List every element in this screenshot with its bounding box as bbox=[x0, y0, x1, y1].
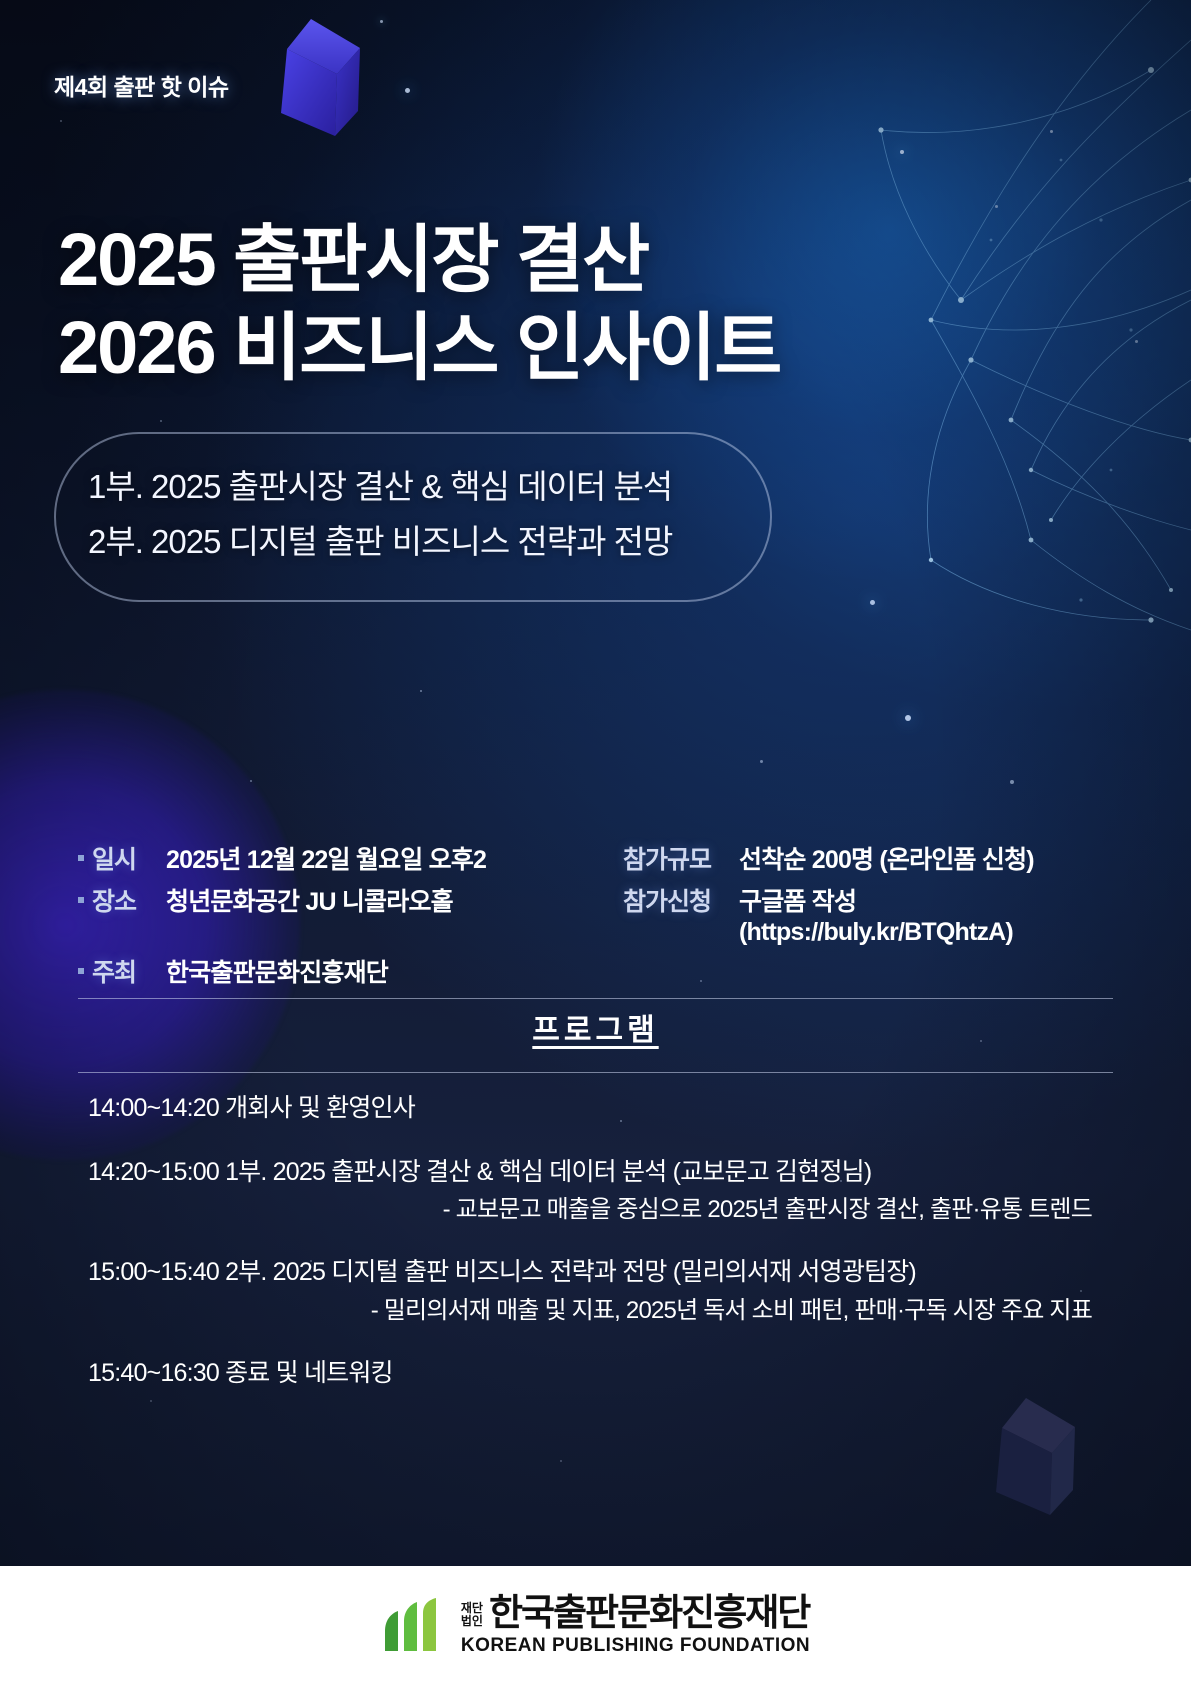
info-apply: 참가신청 구글폼 작성 (https://buly.kr/BTQhtzA) bbox=[623, 882, 1113, 947]
list-item: 15:00~15:40 2부. 2025 디지털 출판 비즈니스 전략과 전망 … bbox=[88, 1254, 1098, 1329]
program-item-sub: - 밀리의서재 매출 및 지표, 2025년 독서 소비 패턴, 판매·구독 시… bbox=[88, 1292, 1098, 1329]
info-apply-values: 구글폼 작성 (https://buly.kr/BTQhtzA) bbox=[739, 882, 1013, 947]
list-item: 14:20~15:00 1부. 2025 출판시장 결산 & 핵심 데이터 분석… bbox=[88, 1154, 1098, 1229]
info-capacity-value: 선착순 200명 (온라인폼 신청) bbox=[739, 840, 1034, 876]
info-row-1: 일시 2025년 12월 22일 월요일 오후2 참가규모 선착순 200명 (… bbox=[78, 840, 1113, 876]
program-heading: 프로그램 bbox=[0, 1005, 1191, 1049]
program-item-main: 14:20~15:00 1부. 2025 출판시장 결산 & 핵심 데이터 분석… bbox=[88, 1154, 1098, 1192]
info-place-label: 장소 bbox=[92, 882, 166, 918]
info-capacity: 참가규모 선착순 200명 (온라인폼 신청) bbox=[623, 840, 1113, 876]
kicker-label: 제4회 출판 핫 이슈 bbox=[54, 68, 229, 102]
logo-primary-line: 재단 법인 한국출판문화진흥재단 bbox=[461, 1594, 810, 1631]
bullet-icon bbox=[78, 897, 84, 903]
program-item-main: 14:00~14:20 개회사 및 환영인사 bbox=[88, 1090, 1098, 1128]
info-host-label: 주최 bbox=[92, 953, 166, 989]
event-info: 일시 2025년 12월 22일 월요일 오후2 참가규모 선착순 200명 (… bbox=[78, 840, 1113, 995]
logo-korean-name: 한국출판문화진흥재단 bbox=[489, 1594, 809, 1631]
subtitle-box: 1부. 2025 출판시장 결산 & 핵심 데이터 분석 2부. 2025 디지… bbox=[54, 432, 772, 602]
foundation-logo-text: 재단 법인 한국출판문화진흥재단 KOREAN PUBLISHING FOUND… bbox=[461, 1594, 810, 1657]
logo-prefix-line2: 법인 bbox=[461, 1615, 483, 1628]
info-apply-label: 참가신청 bbox=[623, 882, 739, 918]
info-host-value: 한국출판문화진흥재단 bbox=[166, 953, 388, 989]
info-place-value: 청년문화공간 JU 니콜라오홀 bbox=[166, 882, 453, 918]
info-date-label: 일시 bbox=[92, 840, 166, 876]
registration-url[interactable]: (https://buly.kr/BTQhtzA) bbox=[739, 918, 1013, 947]
title-line-2: 2026 비즈니스 인사이트 bbox=[58, 304, 1058, 392]
divider-top bbox=[78, 998, 1113, 999]
info-date: 일시 2025년 12월 22일 월요일 오후2 bbox=[78, 840, 623, 876]
info-apply-value: 구글폼 작성 bbox=[739, 888, 856, 916]
subtitle-line-2: 2부. 2025 디지털 출판 비즈니스 전략과 전망 bbox=[88, 519, 770, 566]
event-poster: 제4회 출판 핫 이슈 2025 출판시장 결산 2026 비즈니스 인사이트 … bbox=[0, 0, 1191, 1684]
program-item-main: 15:40~16:30 종료 및 네트워킹 bbox=[88, 1355, 1098, 1393]
info-capacity-label: 참가규모 bbox=[623, 840, 739, 876]
subtitle-line-1: 1부. 2025 출판시장 결산 & 핵심 데이터 분석 bbox=[88, 464, 770, 511]
info-host: 주최 한국출판문화진흥재단 bbox=[78, 953, 623, 989]
info-place: 장소 청년문화공간 JU 니콜라오홀 bbox=[78, 882, 623, 918]
info-row-3: 주최 한국출판문화진흥재단 bbox=[78, 953, 1113, 989]
program-list: 14:00~14:20 개회사 및 환영인사 14:20~15:00 1부. 2… bbox=[88, 1090, 1098, 1418]
divider-bottom bbox=[78, 1072, 1113, 1073]
program-item-sub: - 교보문고 매출을 중심으로 2025년 출판시장 결산, 출판·유통 트렌드 bbox=[88, 1191, 1098, 1228]
title-line-1: 2025 출판시장 결산 bbox=[58, 216, 1058, 304]
logo-prefix: 재단 법인 bbox=[461, 1602, 483, 1630]
footer-bar: 재단 법인 한국출판문화진흥재단 KOREAN PUBLISHING FOUND… bbox=[0, 1566, 1191, 1684]
info-date-value: 2025년 12월 22일 월요일 오후2 bbox=[166, 840, 486, 876]
list-item: 14:00~14:20 개회사 및 환영인사 bbox=[88, 1090, 1098, 1128]
page-title: 2025 출판시장 결산 2026 비즈니스 인사이트 bbox=[58, 216, 1058, 392]
bullet-icon bbox=[78, 855, 84, 861]
program-item-main: 15:00~15:40 2부. 2025 디지털 출판 비즈니스 전략과 전망 … bbox=[88, 1254, 1098, 1292]
list-item: 15:40~16:30 종료 및 네트워킹 bbox=[88, 1355, 1098, 1393]
logo-english-name: KOREAN PUBLISHING FOUNDATION bbox=[461, 1635, 810, 1657]
info-row-2: 장소 청년문화공간 JU 니콜라오홀 참가신청 구글폼 작성 (https://… bbox=[78, 882, 1113, 947]
foundation-logo-icon bbox=[381, 1597, 447, 1653]
bullet-icon bbox=[78, 968, 84, 974]
cube-icon-top bbox=[253, 16, 378, 146]
